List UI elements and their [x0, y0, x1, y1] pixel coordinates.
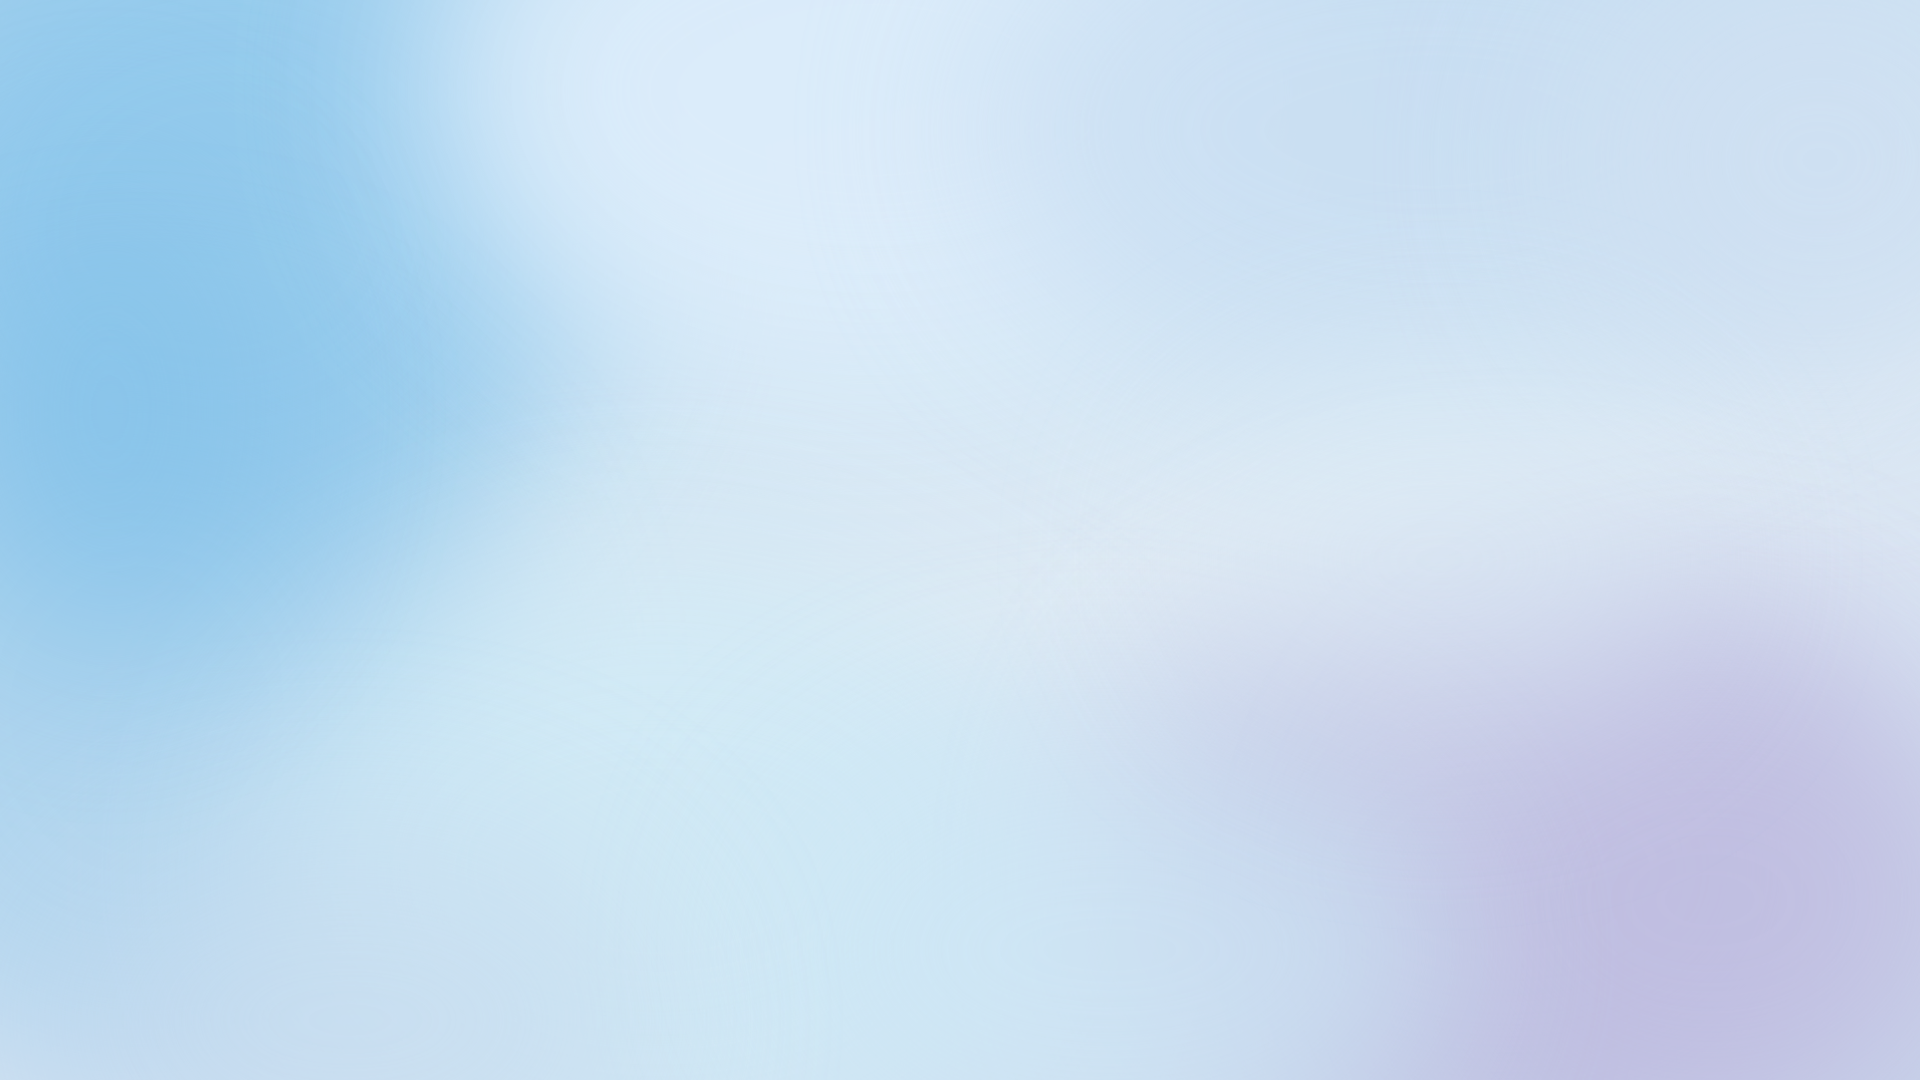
process-chevron-band — [0, 367, 1920, 469]
stage-top-labels — [0, 232, 1920, 342]
stage-bottom-labels — [0, 505, 1920, 855]
